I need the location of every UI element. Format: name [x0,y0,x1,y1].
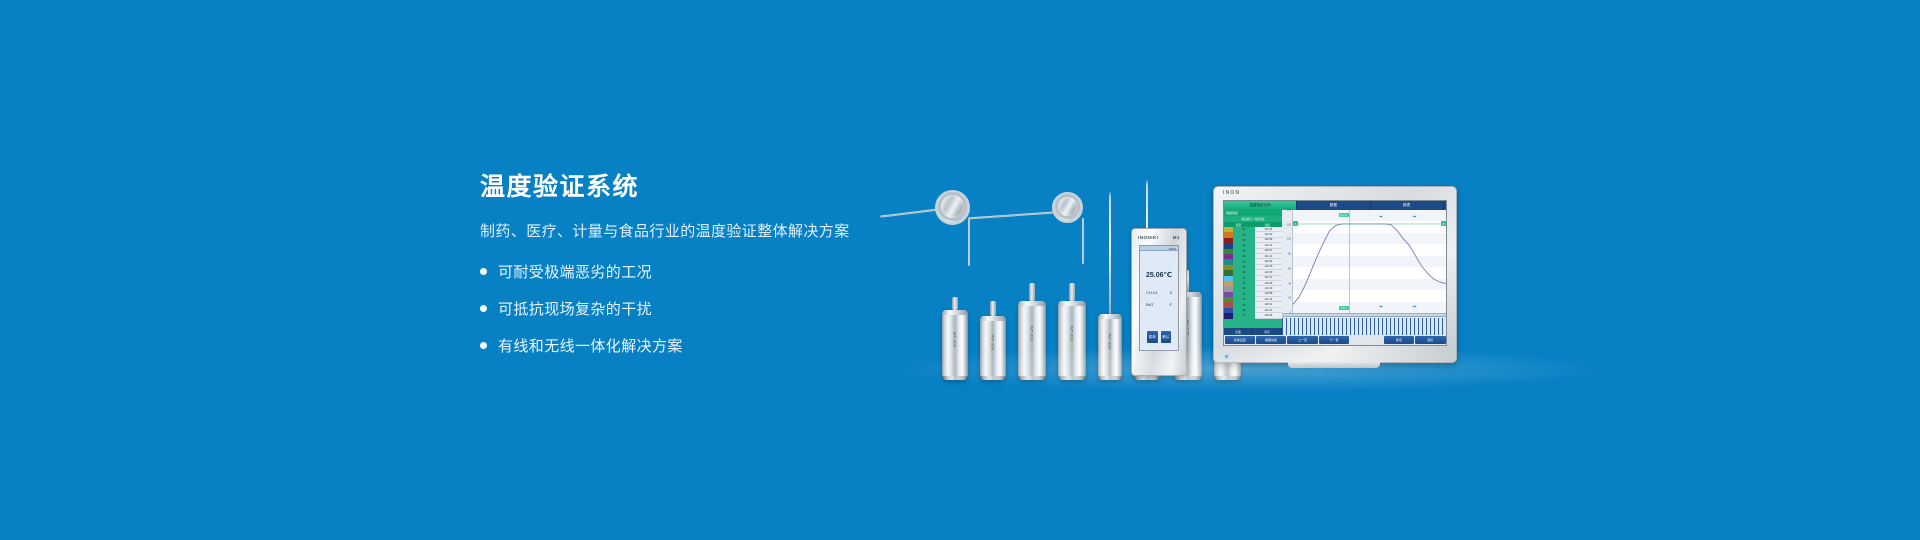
logger-2: WT-200 [980,316,1006,380]
logger-label: WT-210 [1030,326,1035,342]
readout-main-row: 25.06 ℃ [1146,271,1172,279]
y-tick-label: 100 [1287,238,1291,241]
logger-4: WT-210 [1058,301,1086,380]
marker-tag-1: ▬ [1379,215,1383,218]
channel-number: 13 [1233,293,1255,296]
monitor-display: INON 温度验证分析 数据 报表 通道列表 探头编号 / 当前温度 [1213,186,1457,363]
channel-number: 08 [1233,266,1255,269]
power-led-icon [1225,355,1228,358]
channel-number: 03 [1233,239,1255,242]
exit-button[interactable]: 退出 [1415,336,1445,344]
channel-number: 09 [1233,271,1255,274]
logger-1: WT-200 [942,310,968,380]
logger-label: WT-220 [1108,334,1113,350]
channel-number: 06 [1233,255,1255,258]
horizontal-scrollbar[interactable] [1282,314,1446,317]
handheld-status-bar: 100% [1140,246,1178,251]
channel-number: 15 [1233,304,1255,307]
softkey-menu[interactable]: 菜单 [1147,331,1158,343]
feature-list: 可耐受极端恶劣的工况 可抵抗现场复杂的干扰 有线和无线一体化解决方案 [480,261,940,356]
channel-number: 01 [1233,228,1255,231]
logger-body: WT-220 [1098,314,1122,380]
x-axis[interactable] [1282,313,1446,335]
y-axis: 020406080100120140 [1282,210,1293,313]
channel-number: 02 [1233,234,1255,237]
software-screen: 温度验证分析 数据 报表 通道列表 探头编号 / 当前温度 通道 温度 [1223,200,1447,346]
y-tick-label: 60 [1288,267,1291,270]
y-tick-label: 120 [1287,223,1291,226]
handheld-softkeys: 菜单 确认 [1147,331,1171,343]
legend-footer: 全选 清空 [1224,328,1282,335]
series-svg [1293,210,1446,313]
feature-label: 可耐受极端恶劣的工况 [498,261,652,282]
feature-label: 有线和无线一体化解决方案 [498,335,683,356]
next-page-button[interactable]: 下一页 [1319,336,1349,344]
probe-neck [1029,283,1035,301]
handheld-brand-label: INONIKI [1138,235,1159,240]
readout-unit: ℃ [1164,271,1172,279]
probe-neck [990,301,996,316]
list-item: 可抵抗现场复杂的干扰 [480,298,940,319]
channel-number: 16 [1233,309,1255,312]
banner-copy: 温度验证系统 制药、医疗、计量与食品行业的温度验证整体解决方案 可耐受极端恶劣的… [480,172,940,356]
app-toolbar-top: 温度验证分析 数据 报表 [1224,201,1446,210]
bullet-dot-icon [480,268,487,275]
logger-body: WT-210 [1018,301,1046,380]
legend-col-channel: 通道 [1224,223,1253,227]
system-settings-button[interactable]: 系统设置 [1225,336,1255,344]
logger-5-needle: WT-220 [1098,314,1122,380]
chart-canvas[interactable]: 保温段 开始点 A B ▬ ▬ ▬ ▬ [1293,210,1446,313]
x-axis-ticks [1282,318,1446,335]
channel-number: 10 [1233,277,1255,280]
logger-label: WT-200 [991,335,996,351]
y-tick-label: 140 [1287,209,1291,212]
battery-label: 100% [1168,247,1176,251]
tab-report[interactable]: 报表 [1371,201,1444,210]
readout-value: 25.06 [1146,272,1164,279]
handheld-reader[interactable]: INONIKI M1 100% 25.06 ℃ CH-01 0 [1131,228,1187,376]
bullet-dot-icon [480,305,487,312]
app-body: 通道列表 探头编号 / 当前温度 通道 温度 01121.0602121.020… [1224,210,1446,335]
export-button[interactable]: 导出 [1384,336,1414,344]
channel-number: 14 [1233,298,1255,301]
monitor-bezel: INON 温度验证分析 数据 报表 通道列表 探头编号 / 当前温度 [1213,186,1457,363]
logger-body: WT-200 [980,316,1006,380]
plot-area: 020406080100120140 保温段 开始点 A B [1282,210,1446,313]
handheld-model-label: M1 [1173,235,1180,240]
logger-3: WT-210 [1018,301,1046,380]
softkey-confirm[interactable]: 确认 [1161,331,1172,343]
cursor-top-label[interactable]: 保温段 [1339,213,1349,217]
channel-number: 05 [1233,250,1255,253]
bullet-dot-icon [480,342,487,349]
marker-tag-3: ▬ [1379,305,1383,308]
readout-label: BAT [1146,302,1153,307]
logger-body: WT-200 [942,310,968,380]
channel-number: 12 [1233,287,1255,290]
chart-panel: 020406080100120140 保温段 开始点 A B [1282,210,1446,335]
readout-row: BAT F [1146,302,1172,307]
cursor-bottom-label[interactable]: 开始点 [1339,306,1349,310]
list-item: 有线和无线一体化解决方案 [480,335,940,356]
handheld-branding: INONIKI M1 [1138,235,1180,240]
list-item: 可耐受极端恶劣的工况 [480,261,940,282]
page-title: 温度验证系统 [480,172,940,202]
logger-label: WT-200 [953,331,958,347]
legend-col-value: 温度 [1253,223,1282,227]
y-tick-label: 40 [1288,282,1291,285]
readout-row: CH-01 0 [1146,290,1172,295]
logger-label: WT-210 [1070,326,1075,342]
select-all-button[interactable]: 全选 [1224,328,1253,335]
readout-label: CH-01 [1146,290,1158,295]
channel-value: 120.99 [1255,313,1282,318]
legend-title: 通道列表 [1226,211,1238,215]
probe-neck [1069,283,1075,301]
channel-number: 17 [1233,314,1255,317]
channel-number: 11 [1233,282,1255,285]
app-toolbar-bottom: 系统设置 数据采集 上一页 下一页 导出 退出 [1224,335,1446,345]
logger-body: WT-210 [1058,301,1086,380]
y-tick-label: 80 [1288,253,1291,256]
range-handle-b[interactable]: B [1441,221,1446,226]
monitor-stand [1288,362,1380,368]
monitor-brand-label: INON [1223,190,1240,196]
readout-value: F [1170,302,1172,307]
handheld-screen: 100% 25.06 ℃ CH-01 0 BAT F [1139,245,1179,351]
channel-color-swatch [1224,313,1233,318]
marker-tag-2: ▬ [1412,215,1416,218]
tab-data[interactable]: 数据 [1297,201,1370,210]
probe-stub-icon [1187,270,1189,292]
channel-number: 04 [1233,244,1255,247]
channel-number: 07 [1233,261,1255,264]
clear-button[interactable]: 清空 [1253,328,1282,335]
toolbar-spacer [1350,335,1383,345]
promo-banner: 温度验证系统 制药、医疗、计量与食品行业的温度验证整体解决方案 可耐受极端恶劣的… [0,0,1920,540]
legend-row-list[interactable]: 01121.0602121.0203120.9804121.1105120.87… [1224,227,1282,328]
handheld-shell: INONIKI M1 100% 25.06 ℃ CH-01 0 [1131,228,1187,376]
needle-probe-icon [1109,198,1111,314]
legend-row[interactable]: 17120.99 [1224,313,1282,318]
probe-neck [952,297,958,310]
banner-subtitle: 制药、医疗、计量与食品行业的温度验证整体解决方案 [480,220,940,241]
prev-page-button[interactable]: 上一页 [1287,336,1317,344]
y-tick-label: 20 [1288,297,1291,300]
channel-legend-panel: 通道列表 探头编号 / 当前温度 通道 温度 01121.0602121.020… [1224,210,1282,335]
range-handle-a[interactable]: A [1293,221,1298,226]
marker-tag-4: ▬ [1412,305,1416,308]
feature-label: 可抵抗现场复杂的干扰 [498,298,652,319]
data-collect-button[interactable]: 数据采集 [1256,336,1286,344]
readout-value: 0 [1170,290,1172,295]
handheld-readout: 25.06 ℃ CH-01 0 BAT F [1140,251,1178,307]
